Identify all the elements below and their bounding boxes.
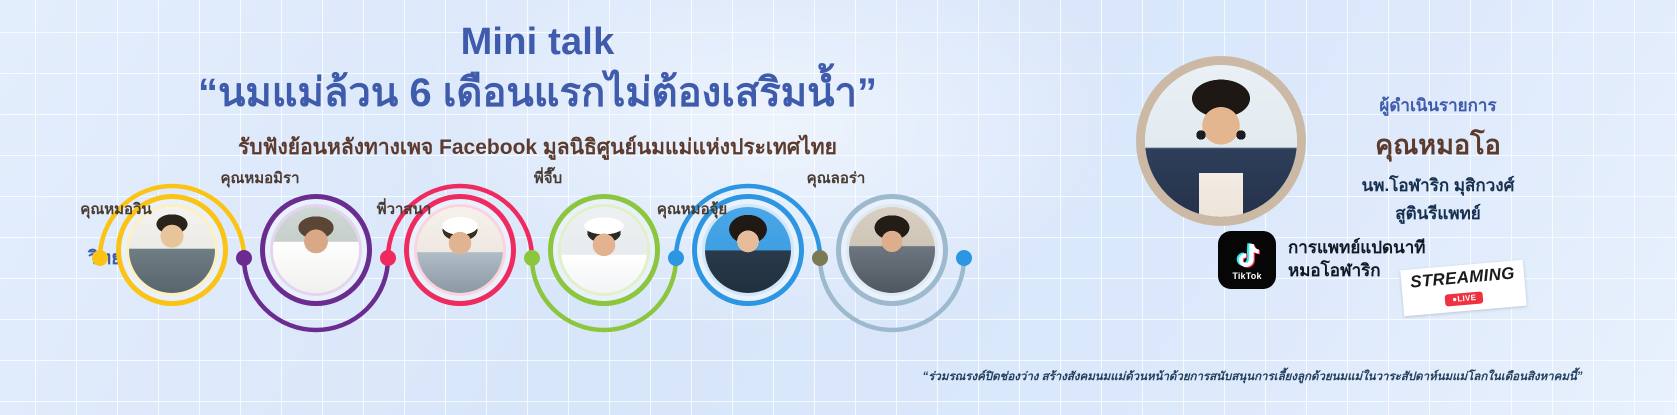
connector-dot-1 (92, 250, 108, 266)
speaker-6-avatar (846, 204, 938, 296)
connector-dot-4 (524, 250, 540, 266)
speaker-4-name: พี่จี๊บ (448, 166, 648, 190)
host-avatar-image (1145, 65, 1297, 217)
host-specialty: สูตินรีแพทย์ (1288, 200, 1588, 227)
streaming-badge: STREAMING ●LIVE (1400, 260, 1526, 317)
thai-headline: “นมแม่ล้วน 6 เดือนแรกไม่ต้องเสริมน้ำ” (0, 68, 1075, 118)
speaker-row: คุณหมอวิน คุณหมอมิรา พี่วาสนา (0, 180, 1060, 340)
speaker-3-name: พี่วาสนา (304, 197, 504, 221)
footnote: “ร่วมรณรงค์ปิดช่องว่าง สร้างสังคมนมแม่ด้… (845, 368, 1660, 386)
poster-canvas: Mini talk “นมแม่ล้วน 6 เดือนแรกไม่ต้องเส… (0, 0, 1677, 415)
tiktok-note-glyph (1232, 242, 1262, 270)
page-title: Mini talk (0, 22, 1075, 64)
speaker-2-name: คุณหมอมิรา (160, 166, 360, 190)
subtitle: รับฟังย้อนหลังทางเพจ Facebook มูลนิธิศูน… (0, 131, 1075, 164)
connector-dot-5 (668, 250, 684, 266)
tiktok-wordmark: TikTok (1232, 271, 1261, 281)
host-info: ผู้ดำเนินรายการ คุณหมอโอ นพ.โอฬาริก มุสิ… (1288, 92, 1588, 227)
tiktok-icon[interactable]: TikTok (1218, 231, 1276, 289)
connector-dot-2 (236, 250, 252, 266)
host-fullname: นพ.โอฬาริก มุสิกวงศ์ (1288, 172, 1588, 199)
tiktok-line-1: การแพทย์แปดนาที (1288, 237, 1425, 260)
tiktok-channel[interactable]: TikTok การแพทย์แปดนาที หมอโอฬาริก (1218, 231, 1425, 289)
headline-block: Mini talk “นมแม่ล้วน 6 เดือนแรกไม่ต้องเส… (0, 22, 1075, 164)
speaker-6-name: คุณลอร่า (736, 166, 936, 190)
speaker-1-name: คุณหมอวิน (16, 197, 216, 221)
host-nickname: คุณหมอโอ (1288, 123, 1588, 166)
live-chip: ●LIVE (1445, 291, 1484, 306)
streaming-label: STREAMING (1409, 264, 1515, 293)
host-role: ผู้ดำเนินรายการ (1288, 92, 1588, 119)
connector-dot-3 (380, 250, 396, 266)
host-avatar (1136, 56, 1306, 226)
connector-dot-6 (812, 250, 828, 266)
speaker-5-name: คุณหมอจุ้ย (592, 197, 792, 221)
speaker-6-ring (836, 194, 948, 306)
connector-dot-7 (956, 250, 972, 266)
